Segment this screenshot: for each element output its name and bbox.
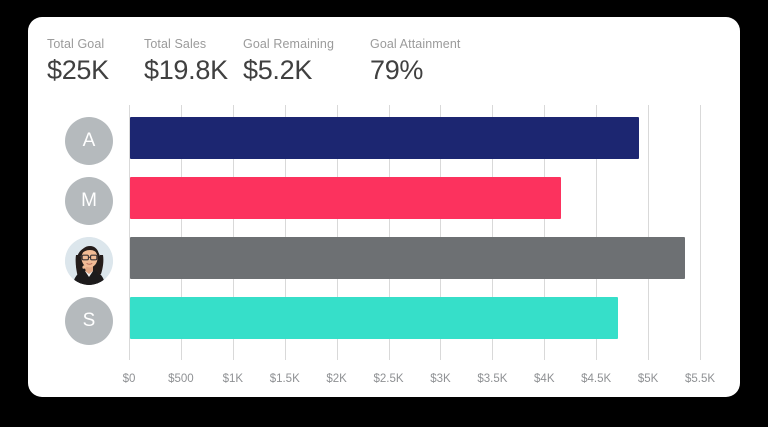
bar-m[interactable] (130, 177, 561, 219)
sales-goal-card: Total Goal $25K Total Sales $19.8K Goal … (28, 17, 740, 397)
plot-area: $0$500$1K$1.5K$2K$2.5K$3K$3.5K$4K$4.5K$5… (129, 105, 700, 360)
bar-photo[interactable] (130, 237, 685, 279)
gridline (648, 105, 649, 360)
x-axis-tick-label: $2.5K (374, 373, 404, 385)
screenshot-root: Total Goal $25K Total Sales $19.8K Goal … (0, 0, 768, 427)
bar-s[interactable] (130, 297, 618, 339)
x-axis-tick-label: $4K (534, 373, 554, 385)
gridline (700, 105, 701, 360)
x-axis-tick-label: $3K (430, 373, 450, 385)
x-axis-tick-label: $1K (223, 373, 243, 385)
x-axis-tick-label: $4.5K (581, 373, 611, 385)
x-axis-tick-label: $5.5K (685, 373, 715, 385)
x-axis-tick-label: $500 (168, 373, 194, 385)
x-axis-tick-label: $0 (123, 373, 136, 385)
x-axis-tick-label: $1.5K (270, 373, 300, 385)
bar-a[interactable] (130, 117, 639, 159)
x-axis-tick-label: $3.5K (477, 373, 507, 385)
x-axis-tick-label: $2K (326, 373, 346, 385)
x-axis-tick-label: $5K (638, 373, 658, 385)
sales-bar-chart: $0$500$1K$1.5K$2K$2.5K$3K$3.5K$4K$4.5K$5… (28, 17, 740, 397)
